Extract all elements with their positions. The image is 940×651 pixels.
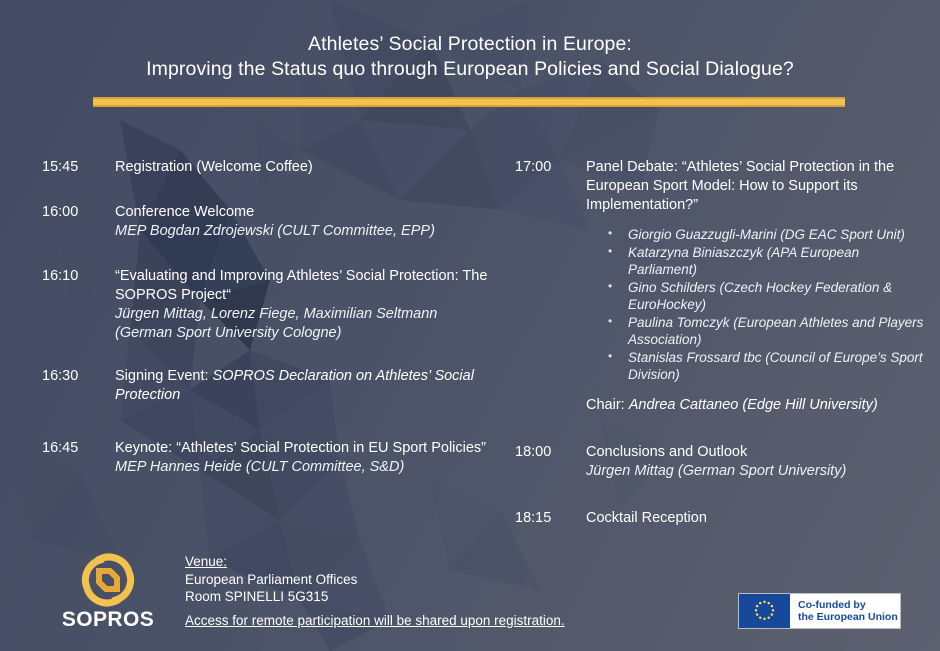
eu-badge-line-1: Co-funded by <box>798 599 898 612</box>
slide-title: Athletes’ Social Protection in Europe: I… <box>0 32 940 82</box>
eu-badge-text: Co-funded by the European Union <box>798 599 898 624</box>
sopros-wordmark: SOPROS <box>62 608 154 631</box>
venue-line-2: Room SPINELLI 5G315 <box>185 588 357 606</box>
agenda-speaker: MEP Hannes Heide (CULT Committee, S&D) <box>115 458 497 477</box>
title-line-2: Improving the Status quo through Europea… <box>0 57 940 82</box>
agenda-description: Signing Event: SOPROS Declaration on Ath… <box>115 367 497 405</box>
sopros-logo: SOPROS <box>62 552 154 634</box>
agenda-time: 18:15 <box>515 509 586 528</box>
agenda-item: 16:00 Conference Welcome MEP Bogdan Zdro… <box>42 203 497 241</box>
agenda-description: Conclusions and Outlook Jürgen Mittag (G… <box>586 443 925 481</box>
agenda-time: 18:00 <box>515 443 586 462</box>
panelist-list: Giorgio Guazzugli-Marini (DG EAC Sport U… <box>586 226 925 383</box>
agenda-speaker: Jürgen Mittag, Lorenz Fiege, Maximilian … <box>115 305 497 343</box>
agenda-speaker: Jürgen Mittag (German Sport University) <box>586 462 925 481</box>
title-line-1: Athletes’ Social Protection in Europe: <box>0 32 940 57</box>
presentation-slide: Athletes’ Social Protection in Europe: I… <box>0 0 940 651</box>
agenda-title: Cocktail Reception <box>586 509 925 528</box>
agenda-title: “Evaluating and Improving Athletes’ Soci… <box>115 267 497 305</box>
agenda-title-prefix: Signing Event: <box>115 368 213 384</box>
sopros-logo-mark: SOPROS <box>62 552 154 634</box>
agenda-item: 15:45 Registration (Welcome Coffee) <box>42 158 497 177</box>
agenda-column-left: 15:45 Registration (Welcome Coffee) 16:0… <box>42 158 497 477</box>
remote-access-note: Access for remote participation will be … <box>185 612 565 629</box>
agenda-title: Keynote: “Athletes’ Social Protection in… <box>115 439 497 458</box>
gold-divider-bar <box>93 97 845 107</box>
list-item: Paulina Tomczyk (European Athletes and P… <box>608 314 925 348</box>
agenda-title: Conference Welcome <box>115 203 497 222</box>
agenda-title: Signing Event: SOPROS Declaration on Ath… <box>115 367 497 405</box>
agenda-time: 16:30 <box>42 367 115 386</box>
venue-label: Venue: <box>185 553 357 571</box>
agenda-title: Conclusions and Outlook <box>586 443 925 462</box>
agenda-time: 16:10 <box>42 267 115 286</box>
eu-cofunded-badge: Co-funded by the European Union <box>738 593 901 629</box>
agenda-description: Registration (Welcome Coffee) <box>115 158 497 177</box>
agenda-item: 16:30 Signing Event: SOPROS Declaration … <box>42 367 497 405</box>
agenda-title: Panel Debate: “Athletes’ Social Protecti… <box>586 158 925 215</box>
agenda-title: Registration (Welcome Coffee) <box>115 158 497 177</box>
agenda-column-right: 17:00 Panel Debate: “Athletes’ Social Pr… <box>515 158 925 528</box>
agenda-description: “Evaluating and Improving Athletes’ Soci… <box>115 267 497 343</box>
agenda-time: 16:45 <box>42 439 115 458</box>
agenda-item: 16:10 “Evaluating and Improving Athletes… <box>42 267 497 343</box>
list-item: Giorgio Guazzugli-Marini (DG EAC Sport U… <box>608 226 925 243</box>
agenda-speaker: MEP Bogdan Zdrojewski (CULT Committee, E… <box>115 222 497 241</box>
list-item: Gino Schilders (Czech Hockey Federation … <box>608 279 925 313</box>
chair-label: Chair: <box>586 397 629 413</box>
eu-flag-icon <box>739 594 790 628</box>
list-item: Stanislas Frossard tbc (Council of Europ… <box>608 349 925 383</box>
agenda-description: Conference Welcome MEP Bogdan Zdrojewski… <box>115 203 497 241</box>
list-item: Katarzyna Biniaszczyk (APA European Parl… <box>608 244 925 278</box>
agenda-time: 16:00 <box>42 203 115 222</box>
venue-block: Venue: European Parliament Offices Room … <box>185 553 357 606</box>
agenda-item: 17:00 Panel Debate: “Athletes’ Social Pr… <box>515 158 925 415</box>
agenda-item: 16:45 Keynote: “Athletes’ Social Protect… <box>42 439 497 477</box>
agenda-item: 18:15 Cocktail Reception <box>515 509 925 528</box>
agenda-item: 18:00 Conclusions and Outlook Jürgen Mit… <box>515 443 925 481</box>
venue-line-1: European Parliament Offices <box>185 571 357 589</box>
agenda-time: 17:00 <box>515 158 586 177</box>
eu-badge-line-2: the European Union <box>798 611 898 624</box>
chair-name: Andrea Cattaneo (Edge Hill University) <box>629 397 878 413</box>
panel-chair: Chair: Andrea Cattaneo (Edge Hill Univer… <box>586 396 925 415</box>
agenda-description: Keynote: “Athletes’ Social Protection in… <box>115 439 497 477</box>
agenda-description: Panel Debate: “Athletes’ Social Protecti… <box>586 158 925 415</box>
agenda-time: 15:45 <box>42 158 115 177</box>
agenda-description: Cocktail Reception <box>586 509 925 528</box>
